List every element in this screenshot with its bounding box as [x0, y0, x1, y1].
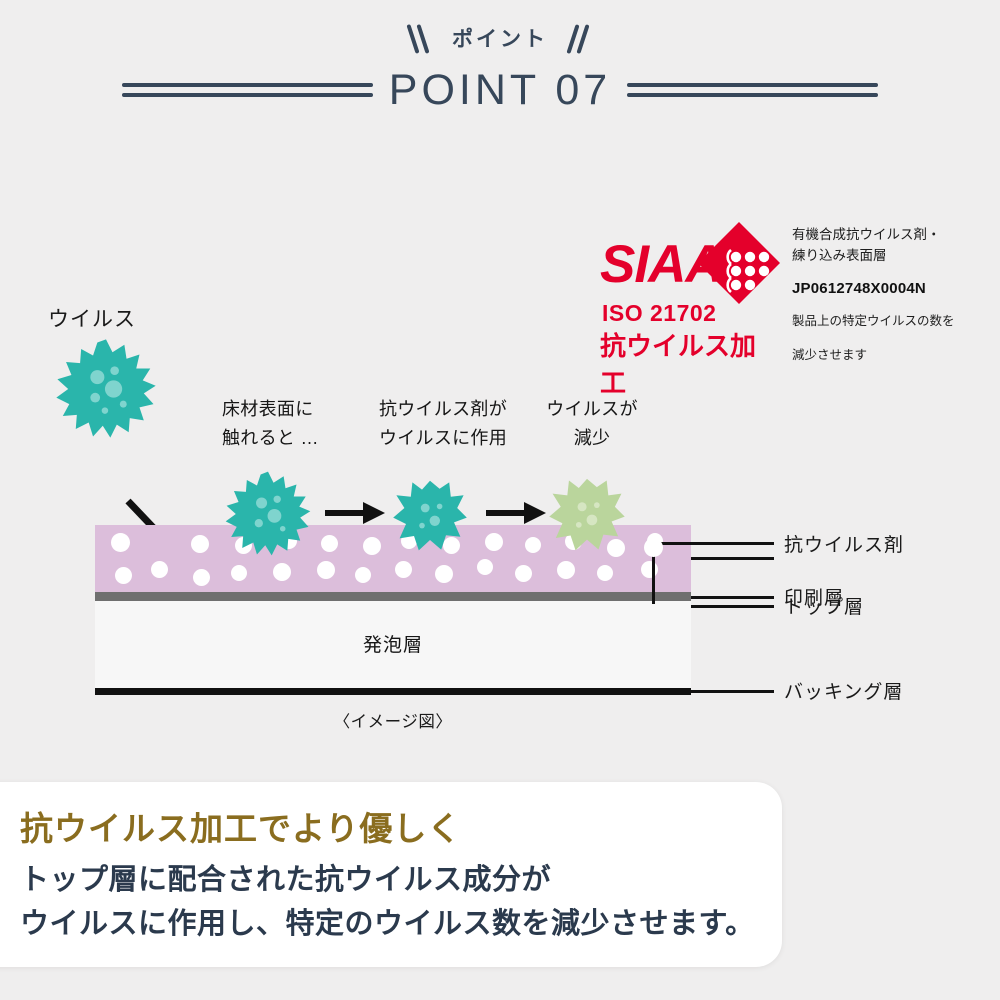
antivirus-agent-dot: [644, 538, 663, 557]
leader-antivirus-horizontal: [652, 542, 774, 545]
title-row: POINT 07: [0, 62, 1000, 118]
flow-arrow-1-icon: [325, 502, 387, 524]
siaa-description-block: 有機合成抗ウイルス剤・ 練り込み表面層 JP0612748X0004N 製品上の…: [792, 224, 992, 365]
leader-print-layer: [691, 596, 774, 599]
step-caption-2-line2: ウイルスに作用: [360, 424, 526, 453]
layer-label-backing: バッキング層: [784, 677, 903, 704]
siaa-certification-label: 抗ウイルス加工: [600, 326, 780, 400]
siaa-diamond-icon: [698, 222, 780, 304]
siaa-description-line2: 練り込み表面層: [792, 245, 992, 266]
siaa-note-line2: 減少させます: [792, 345, 992, 365]
summary-card-body-line1: トップ層に配合された抗ウイルス成分が: [20, 858, 755, 902]
siaa-iso-label: ISO 21702: [602, 300, 716, 327]
page-header: ポイント POINT 07: [0, 0, 1000, 130]
layer-label-antivirus: 抗ウイルス剤: [784, 530, 904, 557]
title-rule-left: [122, 83, 373, 97]
leader-top-layer: [691, 557, 774, 560]
summary-card-heading: 抗ウイルス加工でより優しく: [20, 802, 461, 850]
layer-label-print: 印刷層: [784, 583, 844, 610]
kicker-row: ポイント: [0, 22, 1000, 56]
step-caption-3: ウイルスが 減少: [533, 395, 651, 453]
step-caption-3-line2: 減少: [533, 424, 651, 453]
siaa-note-line1: 製品上の特定ウイルスの数を: [792, 311, 992, 331]
step-caption-1-line1: 床材表面に: [222, 395, 362, 424]
virus-label: ウイルス: [48, 303, 136, 333]
summary-card: 抗ウイルス加工でより優しく トップ層に配合された抗ウイルス成分が ウイルスに作用…: [0, 782, 782, 967]
double-slash-right-icon: [566, 22, 592, 56]
siaa-logo: SIAA: [600, 220, 780, 360]
step-caption-3-line1: ウイルスが: [533, 395, 651, 424]
page-title: POINT 07: [381, 69, 619, 112]
kicker-label: ポイント: [452, 29, 548, 50]
double-slash-left-icon: [408, 22, 434, 56]
flow-arrow-2-icon: [486, 502, 548, 524]
title-rule-right: [627, 83, 878, 97]
step-caption-1-line2: 触れると …: [222, 424, 362, 453]
layer-backing: [95, 688, 691, 695]
page-root: ポイント POINT 07 SIAA: [0, 0, 1000, 1000]
virus-icon-reduced: [546, 474, 628, 556]
siaa-registration-code: JP0612748X0004N: [792, 280, 992, 297]
virus-icon-floating: [52, 335, 160, 443]
step-caption-2-line1: 抗ウイルス剤が: [360, 395, 526, 424]
siaa-description-line1: 有機合成抗ウイルス剤・: [792, 224, 992, 245]
step-caption-1: 床材表面に 触れると …: [222, 395, 362, 453]
image-note: 〈イメージ図〉: [95, 708, 691, 732]
summary-card-body-line2: ウイルスに作用し、特定のウイルス数を減少させます。: [20, 902, 755, 946]
virus-icon-contact: [222, 468, 314, 560]
leader-backing-layer: [691, 690, 774, 693]
virus-icon-acting: [390, 476, 470, 556]
step-caption-2: 抗ウイルス剤が ウイルスに作用: [360, 395, 526, 453]
leader-top-layer-line: [691, 605, 774, 608]
summary-card-body: トップ層に配合された抗ウイルス成分が ウイルスに作用し、特定のウイルス数を減少さ…: [20, 858, 755, 946]
layer-foam-label: 発泡層: [95, 630, 691, 657]
layer-print: [95, 592, 691, 601]
diagram-area: SIAA: [0, 150, 1000, 770]
